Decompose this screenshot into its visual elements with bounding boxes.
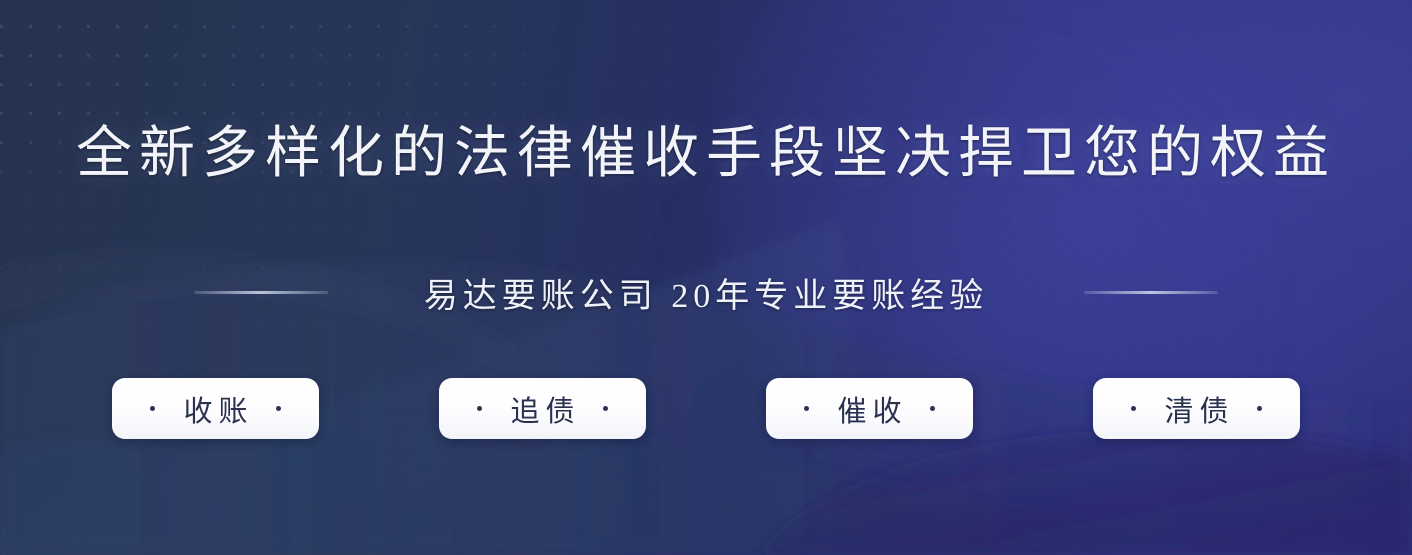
bullet-dot-icon bbox=[603, 406, 608, 411]
service-pill-cuishou[interactable]: 催收 bbox=[766, 378, 973, 439]
banner-content: 全新多样化的法律催收手段坚决捍卫您的权益 易达要账公司 20年专业要账经验 收账… bbox=[0, 0, 1412, 555]
promo-banner: 全新多样化的法律催收手段坚决捍卫您的权益 易达要账公司 20年专业要账经验 收账… bbox=[0, 0, 1412, 555]
bullet-dot-icon bbox=[150, 406, 155, 411]
bullet-dot-icon bbox=[477, 406, 482, 411]
service-pill-label: 催收 bbox=[831, 388, 907, 430]
banner-subtitle: 易达要账公司 20年专业要账经验 bbox=[424, 268, 989, 317]
service-pill-label: 追债 bbox=[504, 388, 580, 430]
service-pill-qingzhai[interactable]: 清债 bbox=[1093, 378, 1300, 439]
service-pill-label: 清债 bbox=[1158, 388, 1234, 430]
bullet-dot-icon bbox=[804, 406, 809, 411]
rule-right-icon bbox=[1084, 291, 1218, 294]
subtitle-row: 易达要账公司 20年专业要账经验 bbox=[0, 268, 1412, 317]
service-pill-label: 收账 bbox=[177, 388, 253, 430]
bullet-dot-icon bbox=[1257, 406, 1262, 411]
service-pill-zhuizhai[interactable]: 追债 bbox=[439, 378, 646, 439]
bullet-dot-icon bbox=[1131, 406, 1136, 411]
bullet-dot-icon bbox=[276, 406, 281, 411]
service-pill-row: 收账 追债 催收 清债 bbox=[0, 378, 1412, 439]
banner-headline: 全新多样化的法律催收手段坚决捍卫您的权益 bbox=[0, 108, 1412, 189]
service-pill-shouzhang[interactable]: 收账 bbox=[112, 378, 319, 439]
rule-left-icon bbox=[194, 291, 328, 294]
bullet-dot-icon bbox=[930, 406, 935, 411]
